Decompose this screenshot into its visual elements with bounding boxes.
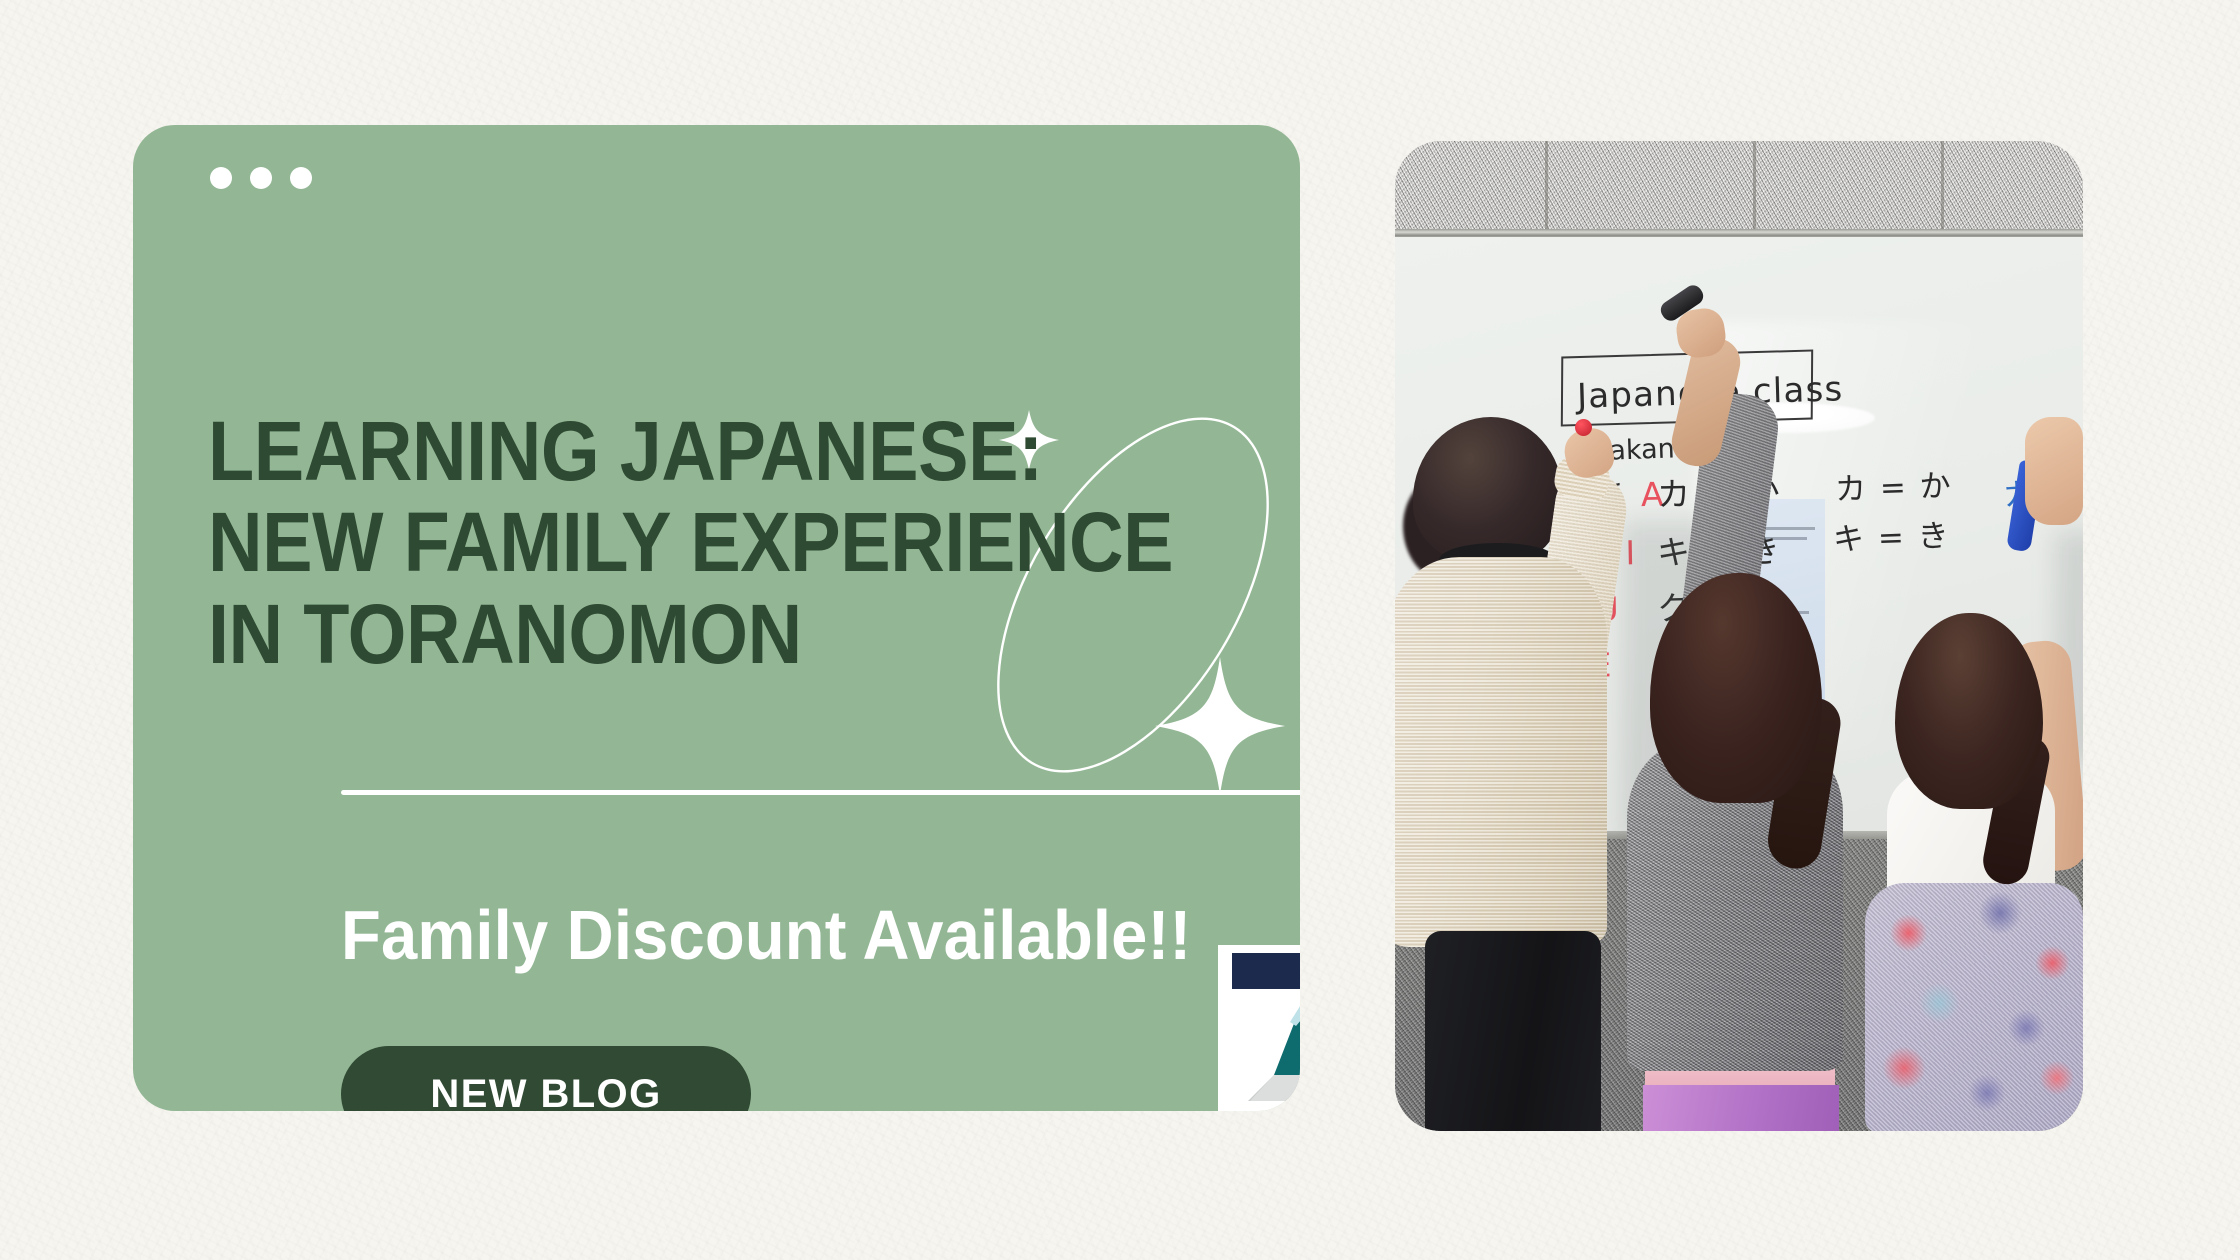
new-blog-button[interactable]: NEW BLOG bbox=[341, 1046, 751, 1111]
page-title: LEARNING JAPANESE: NEW FAMILY EXPERIENCE… bbox=[208, 406, 1162, 679]
red-marker-icon bbox=[1575, 419, 1592, 436]
toranomon-logo[interactable]: Toranomon Language School bbox=[1218, 945, 1300, 1111]
adult-black-trousers bbox=[1425, 931, 1601, 1131]
katakana-row: キ = き bbox=[1832, 521, 1951, 556]
divider bbox=[341, 790, 1300, 795]
child-center-purple-trousers bbox=[1643, 1085, 1839, 1131]
window-dot-2 bbox=[250, 167, 272, 189]
promo-card: LEARNING JAPANESE: NEW FAMILY EXPERIENCE… bbox=[133, 125, 1300, 1111]
page-title-line-2: NEW FAMILY EXPERIENCE bbox=[208, 497, 1162, 588]
window-dot-3 bbox=[290, 167, 312, 189]
child-center-hair bbox=[1650, 573, 1822, 803]
sparkle-star-icon bbox=[1155, 657, 1285, 795]
katakana-row: カ = か bbox=[1834, 471, 1953, 506]
child-right-patterned-jacket bbox=[1865, 883, 2083, 1131]
toranomon-tt-mount-fuji-logo-icon bbox=[1218, 945, 1300, 1111]
classroom-photo: Japanese class Katakana ア = あ A カ = か = … bbox=[1395, 141, 2083, 1131]
subheadline: Family Discount Available!! bbox=[341, 895, 1271, 976]
ceiling-seam bbox=[1941, 141, 1944, 231]
ceiling-seam bbox=[1545, 141, 1548, 231]
ceiling-seam bbox=[1753, 141, 1756, 231]
ceiling-panels bbox=[1395, 141, 2083, 231]
child-right-hand bbox=[2025, 417, 2083, 525]
child-right-hair bbox=[1895, 613, 2043, 809]
page-title-line-1: LEARNING JAPANESE: bbox=[208, 406, 1162, 497]
adult-cream-sweater bbox=[1395, 557, 1607, 947]
window-dot-1 bbox=[210, 167, 232, 189]
window-dots-icon bbox=[210, 167, 312, 189]
page-title-line-3: IN TORANOMON bbox=[208, 589, 1162, 680]
